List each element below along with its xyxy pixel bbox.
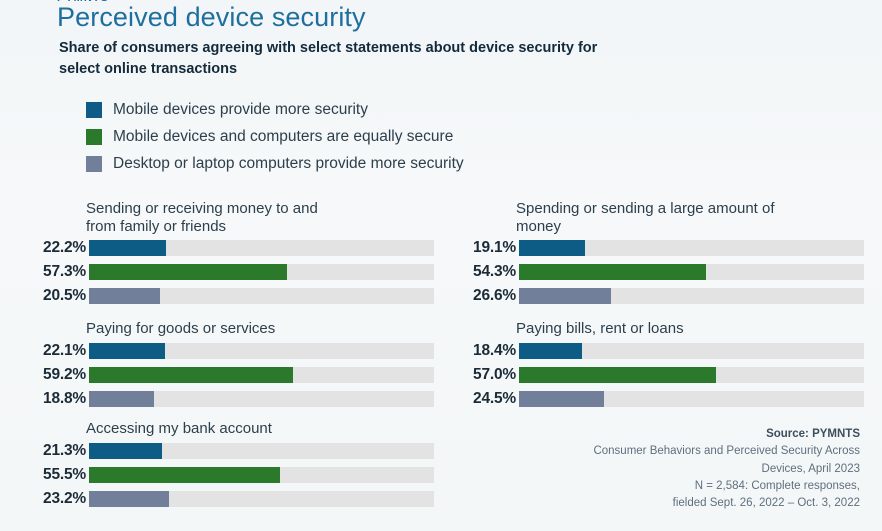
bar-row: 22.1% bbox=[28, 341, 434, 361]
bar-row: 18.4% bbox=[458, 341, 864, 361]
bar-track bbox=[519, 367, 864, 383]
bar-track bbox=[89, 264, 434, 280]
source-note: Source: PYMNTS Consumer Behaviors and Pe… bbox=[500, 426, 860, 512]
bar-track bbox=[519, 264, 864, 280]
legend-swatch-icon bbox=[86, 129, 102, 145]
bar-value-label: 59.2% bbox=[28, 366, 89, 384]
bar-track bbox=[89, 391, 434, 407]
bar-value-label: 23.2% bbox=[28, 490, 89, 508]
bar-row: 20.5% bbox=[28, 286, 434, 306]
legend-item-label: Mobile devices and computers are equally… bbox=[113, 128, 453, 146]
bar-fill bbox=[89, 240, 166, 256]
bar-track bbox=[519, 288, 864, 304]
bar-row: 57.3% bbox=[28, 262, 434, 282]
bar-value-label: 55.5% bbox=[28, 466, 89, 484]
legend-item[interactable]: Mobile devices and computers are equally… bbox=[86, 123, 464, 150]
bar-track bbox=[89, 491, 434, 507]
bar-fill bbox=[519, 391, 604, 407]
bar-value-label: 24.5% bbox=[458, 390, 519, 408]
bar-fill bbox=[89, 467, 280, 483]
bar-value-label: 22.2% bbox=[28, 239, 89, 257]
bar-value-label: 19.1% bbox=[458, 239, 519, 257]
bar-row: 18.8% bbox=[28, 389, 434, 409]
page-subtitle: Share of consumers agreeing with select … bbox=[59, 38, 639, 80]
legend-item-label: Desktop or laptop computers provide more… bbox=[113, 155, 464, 173]
legend-swatch-icon bbox=[86, 156, 102, 172]
bar-fill bbox=[89, 343, 165, 359]
bar-fill bbox=[89, 288, 160, 304]
bar-fill bbox=[89, 391, 154, 407]
bar-value-label: 57.3% bbox=[28, 263, 89, 281]
source-line-4: fielded Sept. 26, 2022 – Oct. 3, 2022 bbox=[500, 495, 860, 512]
bar-row: 24.5% bbox=[458, 389, 864, 409]
bar-value-label: 21.3% bbox=[28, 442, 89, 460]
bar-row: 57.0% bbox=[458, 365, 864, 385]
chart-group: Spending or sending a large amount of mo… bbox=[458, 200, 864, 310]
source-lead: Source: PYMNTS bbox=[500, 426, 860, 443]
legend-item[interactable]: Mobile devices provide more security bbox=[86, 96, 464, 123]
bar-track bbox=[89, 240, 434, 256]
chart-group-title: Paying for goods or services bbox=[86, 320, 416, 338]
bar-value-label: 26.6% bbox=[458, 287, 519, 305]
chart-group: Sending or receiving money to and from f… bbox=[28, 200, 434, 310]
bar-track bbox=[519, 391, 864, 407]
bar-value-label: 18.4% bbox=[458, 342, 519, 360]
legend-item[interactable]: Desktop or laptop computers provide more… bbox=[86, 150, 464, 177]
bar-row: 59.2% bbox=[28, 365, 434, 385]
bar-row: 55.5% bbox=[28, 465, 434, 485]
bar-fill bbox=[519, 240, 585, 256]
bar-row: 21.3% bbox=[28, 441, 434, 461]
chart-group-title: Accessing my bank account bbox=[86, 420, 416, 438]
bar-value-label: 18.8% bbox=[28, 390, 89, 408]
bar-fill bbox=[89, 443, 162, 459]
bar-fill bbox=[519, 264, 706, 280]
bar-track bbox=[89, 343, 434, 359]
bar-track bbox=[89, 443, 434, 459]
bar-track bbox=[89, 288, 434, 304]
source-line-3: N = 2,584: Complete responses, bbox=[500, 478, 860, 495]
bar-value-label: 22.1% bbox=[28, 342, 89, 360]
bar-track bbox=[519, 343, 864, 359]
chart-group: Paying for goods or services22.1%59.2%18… bbox=[28, 320, 434, 413]
bar-fill bbox=[89, 367, 293, 383]
bar-value-label: 54.3% bbox=[458, 263, 519, 281]
bar-track bbox=[89, 367, 434, 383]
chart-group: Accessing my bank account21.3%55.5%23.2% bbox=[28, 420, 434, 513]
chart-group-title: Sending or receiving money to and from f… bbox=[86, 200, 416, 235]
bar-track bbox=[519, 240, 864, 256]
bar-fill bbox=[519, 288, 611, 304]
page-title: Perceived device security bbox=[57, 2, 366, 33]
bar-track bbox=[89, 467, 434, 483]
source-line-2: Devices, April 2023 bbox=[500, 461, 860, 478]
bar-fill bbox=[519, 367, 716, 383]
chart-group-title: Paying bills, rent or loans bbox=[516, 320, 861, 338]
bar-value-label: 57.0% bbox=[458, 366, 519, 384]
bar-row: 26.6% bbox=[458, 286, 864, 306]
bar-fill bbox=[89, 264, 287, 280]
bar-fill bbox=[519, 343, 582, 359]
chart-canvas: PYMNTS Perceived device security Share o… bbox=[0, 0, 882, 531]
chart-legend: Mobile devices provide more securityMobi… bbox=[86, 96, 464, 177]
legend-item-label: Mobile devices provide more security bbox=[113, 101, 368, 119]
bar-row: 23.2% bbox=[28, 489, 434, 509]
bar-fill bbox=[89, 491, 169, 507]
bar-row: 22.2% bbox=[28, 238, 434, 258]
source-line-1: Consumer Behaviors and Perceived Securit… bbox=[500, 443, 860, 460]
bar-row: 19.1% bbox=[458, 238, 864, 258]
chart-group: Paying bills, rent or loans18.4%57.0%24.… bbox=[458, 320, 864, 413]
bar-row: 54.3% bbox=[458, 262, 864, 282]
bar-value-label: 20.5% bbox=[28, 287, 89, 305]
legend-swatch-icon bbox=[86, 102, 102, 118]
chart-group-title: Spending or sending a large amount of mo… bbox=[516, 200, 861, 235]
